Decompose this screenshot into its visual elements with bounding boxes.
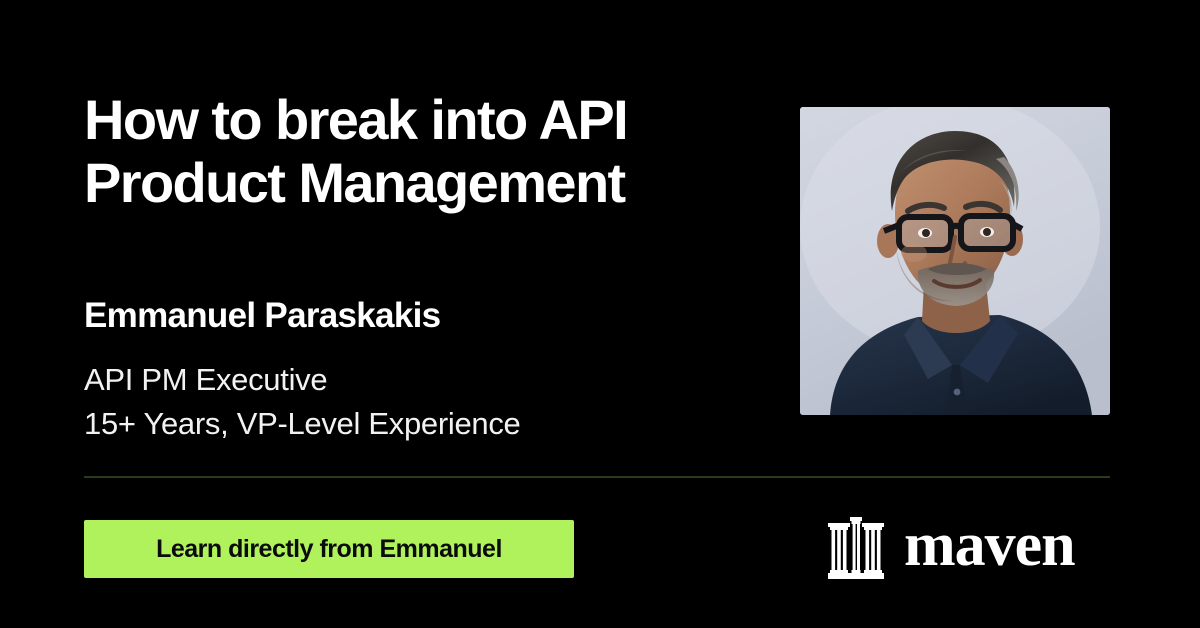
headline-line-1: How to break into API xyxy=(84,88,744,151)
speaker-portrait xyxy=(800,107,1110,415)
cta-button-label: Learn directly from Emmanuel xyxy=(156,535,502,564)
portrait-illustration xyxy=(800,107,1110,415)
headline-block: How to break into API Product Management xyxy=(84,88,744,215)
divider xyxy=(84,476,1110,478)
speaker-name: Emmanuel Paraskakis xyxy=(84,296,764,336)
learn-from-speaker-button[interactable]: Learn directly from Emmanuel xyxy=(84,520,574,578)
speaker-credentials: API PM Executive 15+ Years, VP-Level Exp… xyxy=(84,358,764,446)
classical-columns-icon xyxy=(828,517,884,579)
page-title: How to break into API Product Management xyxy=(84,88,744,215)
maven-wordmark: maven xyxy=(904,514,1075,576)
speaker-credential-role: API PM Executive xyxy=(84,358,764,402)
maven-logo: maven xyxy=(828,512,1075,584)
speaker-block: Emmanuel Paraskakis API PM Executive 15+… xyxy=(84,296,764,446)
promo-card: How to break into API Product Management… xyxy=(0,0,1200,628)
speaker-credential-experience: 15+ Years, VP-Level Experience xyxy=(84,402,764,446)
headline-line-2: Product Management xyxy=(84,151,744,214)
